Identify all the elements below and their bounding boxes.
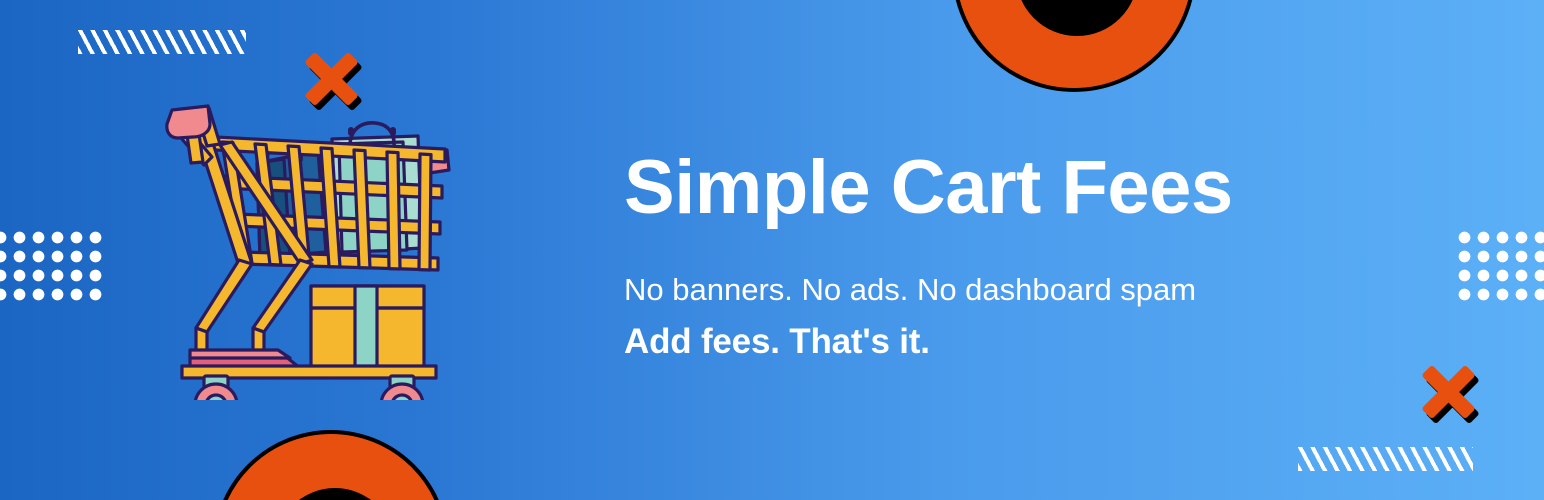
orange-ring-icon: [213, 430, 449, 500]
x-mark-face: [1419, 363, 1477, 421]
banner-copy: Simple Cart Fees No banners. No ads. No …: [624, 150, 1424, 362]
diagonal-hatch-icon: [1298, 447, 1473, 471]
shopping-cart-illustration: [160, 100, 470, 400]
dot-grid-icon: [0, 228, 104, 306]
gift-box: [311, 286, 424, 368]
promo-banner: Simple Cart Fees No banners. No ads. No …: [0, 0, 1544, 500]
diagonal-hatch-icon: [78, 30, 246, 54]
subtitle-line-1: No banners. No ads. No dashboard spam: [624, 272, 1424, 308]
dot-grid-icon: [1455, 228, 1544, 306]
page-title: Simple Cart Fees: [624, 150, 1424, 226]
x-mark-icon: [1419, 363, 1477, 421]
orange-ring-icon: [952, 0, 1196, 92]
subtitle-line-2: Add fees. That's it.: [624, 322, 1424, 362]
